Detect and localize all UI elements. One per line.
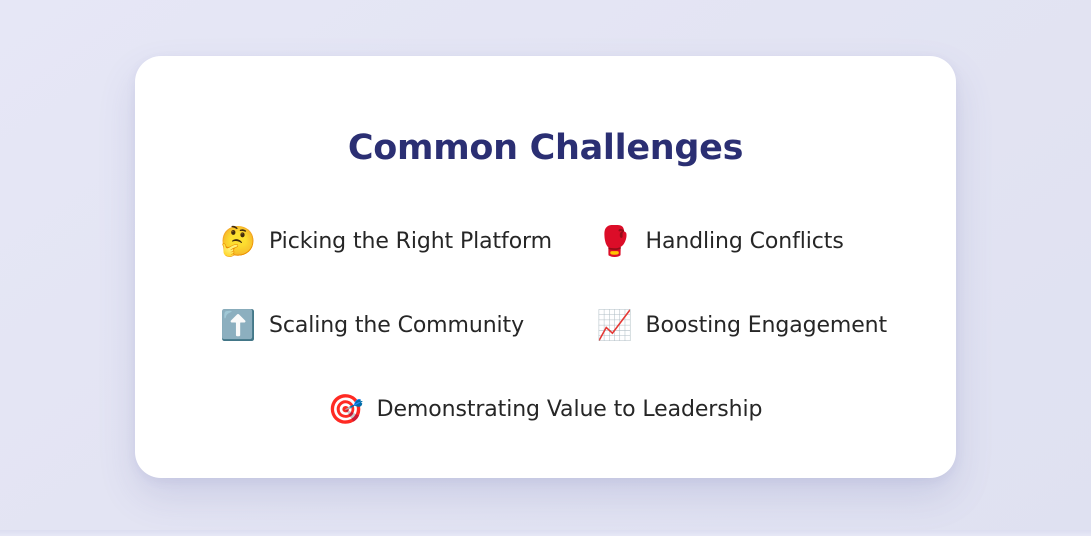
list-item-label: Boosting Engagement — [646, 313, 888, 338]
list-item[interactable]: 🎯 Demonstrating Value to Leadership — [329, 382, 763, 436]
list-item-label: Demonstrating Value to Leadership — [377, 397, 763, 422]
challenges-list: 🤔 Picking the Right Platform 🥊 Handling … — [183, 214, 908, 436]
challenge-row-final: 🎯 Demonstrating Value to Leadership — [183, 382, 908, 436]
challenge-cell: 🤔 Picking the Right Platform — [183, 214, 546, 268]
bottom-edge-strip — [0, 530, 1091, 536]
dart-target-icon: 🎯 — [329, 392, 363, 426]
up-arrow-icon: ⬆️ — [221, 308, 255, 342]
slide-stage: Common Challenges 🤔 Picking the Right Pl… — [0, 0, 1091, 536]
challenge-cell: 🥊 Handling Conflicts — [546, 214, 909, 268]
challenge-row: 🤔 Picking the Right Platform 🥊 Handling … — [183, 214, 908, 268]
list-item-label: Handling Conflicts — [646, 229, 844, 254]
page-title: Common Challenges — [348, 128, 743, 168]
list-item[interactable]: 🤔 Picking the Right Platform — [221, 214, 552, 268]
challenges-card: Common Challenges 🤔 Picking the Right Pl… — [135, 56, 956, 478]
thinking-face-icon: 🤔 — [221, 224, 255, 258]
list-item[interactable]: 📈 Boosting Engagement — [598, 298, 888, 352]
list-item[interactable]: 🥊 Handling Conflicts — [598, 214, 844, 268]
list-item[interactable]: ⬆️ Scaling the Community — [221, 298, 524, 352]
chart-increasing-icon: 📈 — [598, 308, 632, 342]
challenge-row: ⬆️ Scaling the Community 📈 Boosting Enga… — [183, 298, 908, 352]
challenge-cell: 📈 Boosting Engagement — [546, 298, 909, 352]
challenge-cell: ⬆️ Scaling the Community — [183, 298, 546, 352]
list-item-label: Picking the Right Platform — [269, 229, 552, 254]
list-item-label: Scaling the Community — [269, 313, 524, 338]
boxing-glove-icon: 🥊 — [598, 224, 632, 258]
